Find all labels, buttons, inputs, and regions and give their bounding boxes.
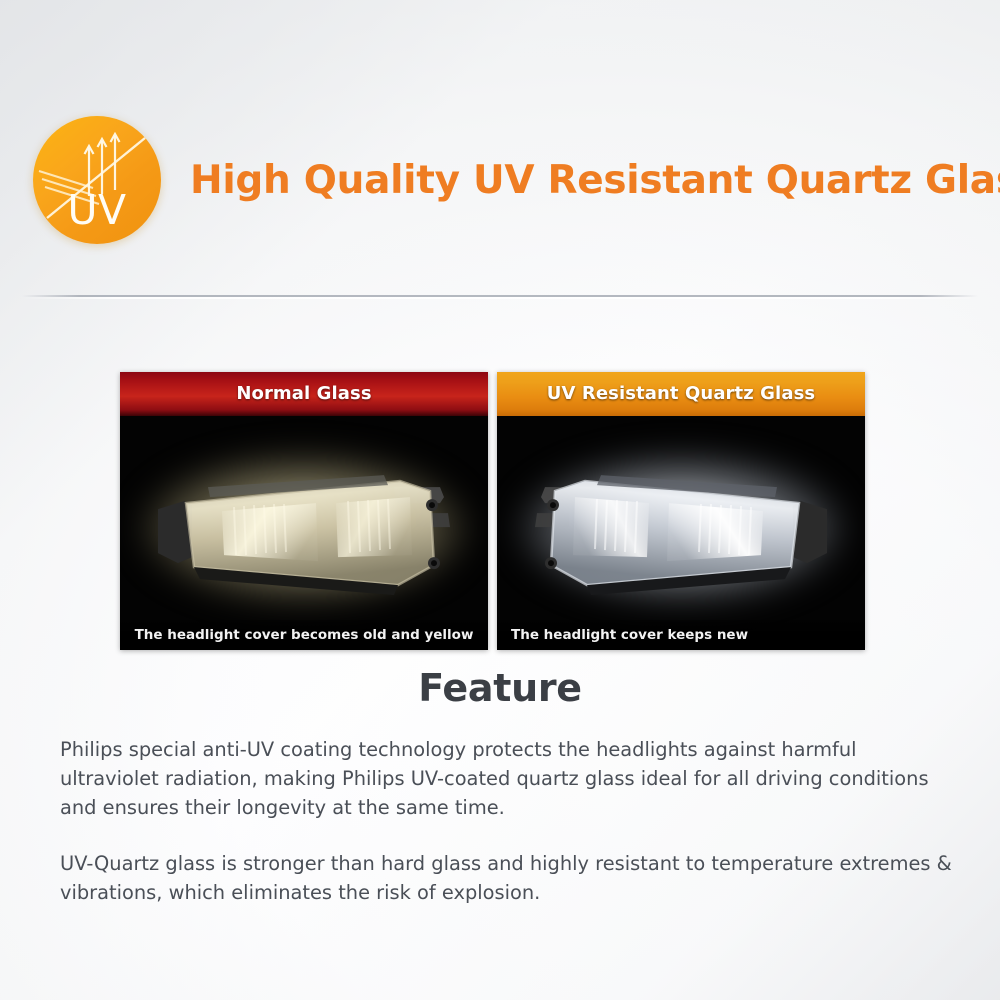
glass-comparison: Normal Glass (120, 372, 865, 650)
feature-body: Philips special anti-UV coating technolo… (60, 735, 953, 907)
panel-heading-normal-glass: Normal Glass (120, 372, 488, 416)
feature-paragraph-2: UV-Quartz glass is stronger than hard gl… (60, 849, 953, 907)
uv-badge: UV (33, 116, 161, 244)
clear-headlight-photo: The headlight cover keeps new (497, 416, 865, 650)
panel-caption-uv-quartz-glass: The headlight cover keeps new (497, 620, 865, 650)
header-divider (22, 295, 978, 297)
panel-caption-normal-glass: The headlight cover becomes old and yell… (120, 620, 488, 650)
headlight-illustration (525, 457, 837, 603)
page-header: UV High Quality UV Resistant Quartz Glas… (0, 104, 1000, 256)
feature-heading: Feature (0, 666, 1000, 710)
yellowed-headlight-photo: The headlight cover becomes old and yell… (120, 416, 488, 650)
product-feature-page: UV High Quality UV Resistant Quartz Glas… (0, 0, 1000, 1000)
panel-heading-uv-quartz-glass: UV Resistant Quartz Glass (497, 372, 865, 416)
feature-paragraph-1: Philips special anti-UV coating technolo… (60, 735, 953, 822)
comparison-panel-uv-quartz-glass: UV Resistant Quartz Glass (497, 372, 865, 650)
comparison-panel-normal-glass: Normal Glass (120, 372, 488, 650)
uv-badge-label: UV (33, 190, 161, 231)
headlight-illustration (148, 457, 460, 603)
page-title: High Quality UV Resistant Quartz Glass (190, 158, 1000, 203)
